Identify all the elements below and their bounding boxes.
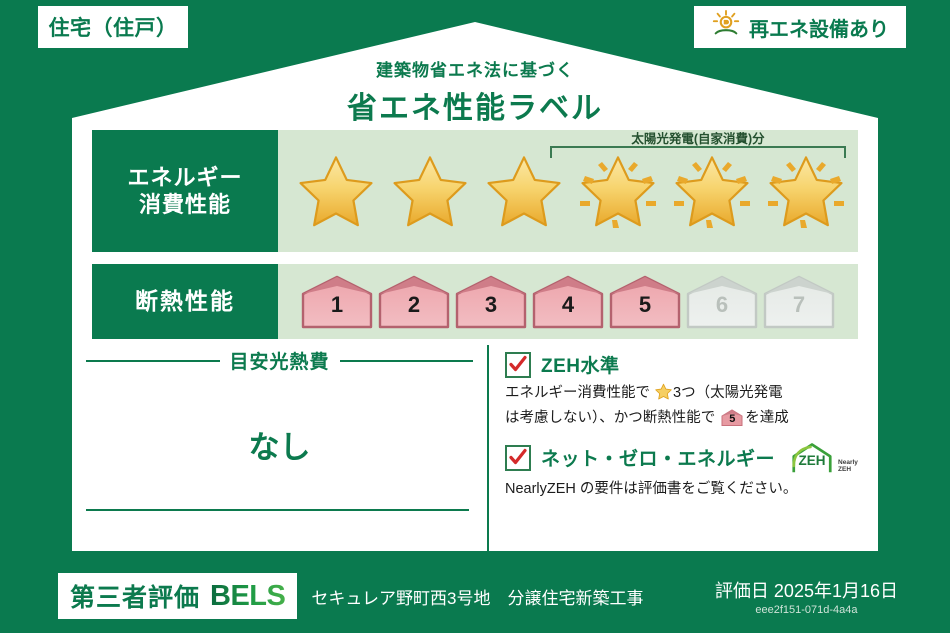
insulation-level-5: 5	[608, 274, 682, 330]
heading-rule-right	[340, 360, 474, 362]
insulation-level-3: 3	[454, 274, 528, 330]
insulation-label-cell: 断熱性能	[92, 264, 278, 339]
insulation-performance-row: 断熱性能 1 2 3 4	[92, 264, 858, 339]
star-solar-icon	[760, 150, 852, 232]
title-main: 省エネ性能ラベル	[0, 83, 950, 127]
inline-house-level-number: 5	[721, 411, 743, 428]
zeh-standard-title: ZEH水準	[541, 351, 620, 378]
heading-rule-left	[86, 360, 220, 362]
insulation-level-4: 4	[531, 274, 605, 330]
net-zero-energy-description: NearlyZEH の要件は評価書をご覧ください。	[505, 478, 857, 500]
inline-star-icon	[655, 383, 672, 407]
label-title: 建築物省エネ法に基づく 省エネ性能ラベル	[0, 56, 950, 127]
net-zero-energy-title: ネット・ゼロ・エネルギー	[541, 444, 775, 471]
star-icon	[478, 150, 570, 232]
net-zero-energy-block: ネット・ゼロ・エネルギー ZEH Nearly ZEH NearlyZEH	[505, 442, 878, 500]
star-icon	[384, 150, 476, 232]
zeh-desc-part-c: は考慮しない）、かつ断熱性能で	[505, 410, 715, 426]
zeh-section: ZEH水準 エネルギー消費性能で 3つ（太陽光発電 は考慮しない）、かつ断熱性能…	[487, 345, 878, 551]
insulation-level-7: 7	[762, 274, 836, 330]
net-zero-energy-heading: ネット・ゼロ・エネルギー ZEH Nearly ZEH	[505, 442, 878, 474]
star-solar-icon	[666, 150, 758, 232]
zeh-house-icon: ZEH	[789, 442, 835, 474]
zeh-logo-subtext: Nearly ZEH	[838, 460, 858, 474]
check-icon	[508, 354, 528, 374]
insulation-band: 1 2 3 4 5	[278, 264, 858, 339]
star-rating	[278, 150, 858, 232]
zeh-logo: ZEH Nearly ZEH	[789, 442, 858, 474]
insulation-level-6: 6	[685, 274, 759, 330]
utility-cost-value: なし	[72, 422, 487, 467]
check-icon	[508, 447, 528, 467]
label-footer: 第三者評価 BELS セキュレア野町西3号地 分譲住宅新築工事 評価日 2025…	[0, 559, 950, 633]
inline-house-level-icon: 5	[721, 409, 743, 426]
housing-type-badge: 住宅（住戸）	[38, 6, 188, 48]
zeh-standard-checkbox[interactable]	[505, 352, 531, 378]
bels-badge: 第三者評価 BELS	[58, 573, 297, 619]
evaluation-id: eee2f151-071d-4a4a	[715, 604, 898, 616]
solar-bracket-label: 太陽光発電(自家消費)分	[548, 128, 848, 147]
energy-stars-band: 太陽光発電(自家消費)分	[278, 130, 858, 252]
energy-performance-label-cell: エネルギー 消費性能	[92, 130, 278, 252]
zeh-desc-part-d: を達成	[745, 410, 789, 426]
renewable-energy-badge: 再エネ設備あり	[694, 6, 906, 48]
energy-label-line1: エネルギー	[127, 164, 242, 192]
insulation-level-1: 1	[300, 274, 374, 330]
energy-label-line2: 消費性能	[139, 191, 231, 219]
zeh-desc-part-b: 3つ（太陽光発電	[673, 385, 783, 401]
insulation-level-2: 2	[377, 274, 451, 330]
zeh-standard-description: エネルギー消費性能で 3つ（太陽光発電 は考慮しない）、かつ断熱性能で 5 を	[505, 382, 857, 430]
star-solar-icon	[572, 150, 664, 232]
star-icon	[290, 150, 382, 232]
zeh-desc-part-a: エネルギー消費性能で	[505, 385, 650, 401]
insulation-label-text: 断熱性能	[135, 287, 235, 316]
svg-text:ZEH: ZEH	[799, 453, 826, 468]
zeh-standard-heading: ZEH水準	[505, 351, 878, 378]
sun-renewable-icon	[711, 9, 741, 45]
zeh-standard-block: ZEH水準 エネルギー消費性能で 3つ（太陽光発電 は考慮しない）、かつ断熱性能…	[505, 351, 878, 430]
project-name: セキュレア野町西3号地 分譲住宅新築工事	[311, 584, 643, 609]
net-zero-energy-checkbox[interactable]	[505, 445, 531, 471]
utility-cost-bottom-rule	[86, 509, 469, 511]
evaluation-meta: 評価日 2025年1月16日 eee2f151-071d-4a4a	[715, 577, 898, 616]
utility-cost-heading: 目安光熱費	[72, 347, 487, 374]
housing-type-text: 住宅（住戸）	[49, 12, 178, 42]
bels-japanese-text: 第三者評価	[70, 578, 200, 614]
zeh-logo-sub-line2: ZEH	[838, 466, 851, 473]
bels-logo-text: BELS	[210, 580, 285, 613]
utility-cost-heading-text: 目安光熱費	[230, 347, 330, 374]
title-subtitle: 建築物省エネ法に基づく	[0, 56, 950, 81]
renewable-energy-text: 再エネ設備あり	[749, 13, 889, 42]
energy-performance-label: 住宅（住戸） 再エネ設備あり 建築物省エネ法に基づく 省エネ性能ラベル	[0, 0, 950, 633]
evaluation-date: 評価日 2025年1月16日	[715, 577, 898, 603]
energy-performance-row: エネルギー 消費性能 太陽光発電(自家消費)分	[92, 130, 858, 252]
utility-cost-section: 目安光熱費 なし	[72, 345, 487, 551]
insulation-level-scale: 1 2 3 4 5	[278, 274, 836, 330]
bottom-section: 目安光熱費 なし ZEH水準 エネルギー消費性能で	[72, 345, 878, 551]
